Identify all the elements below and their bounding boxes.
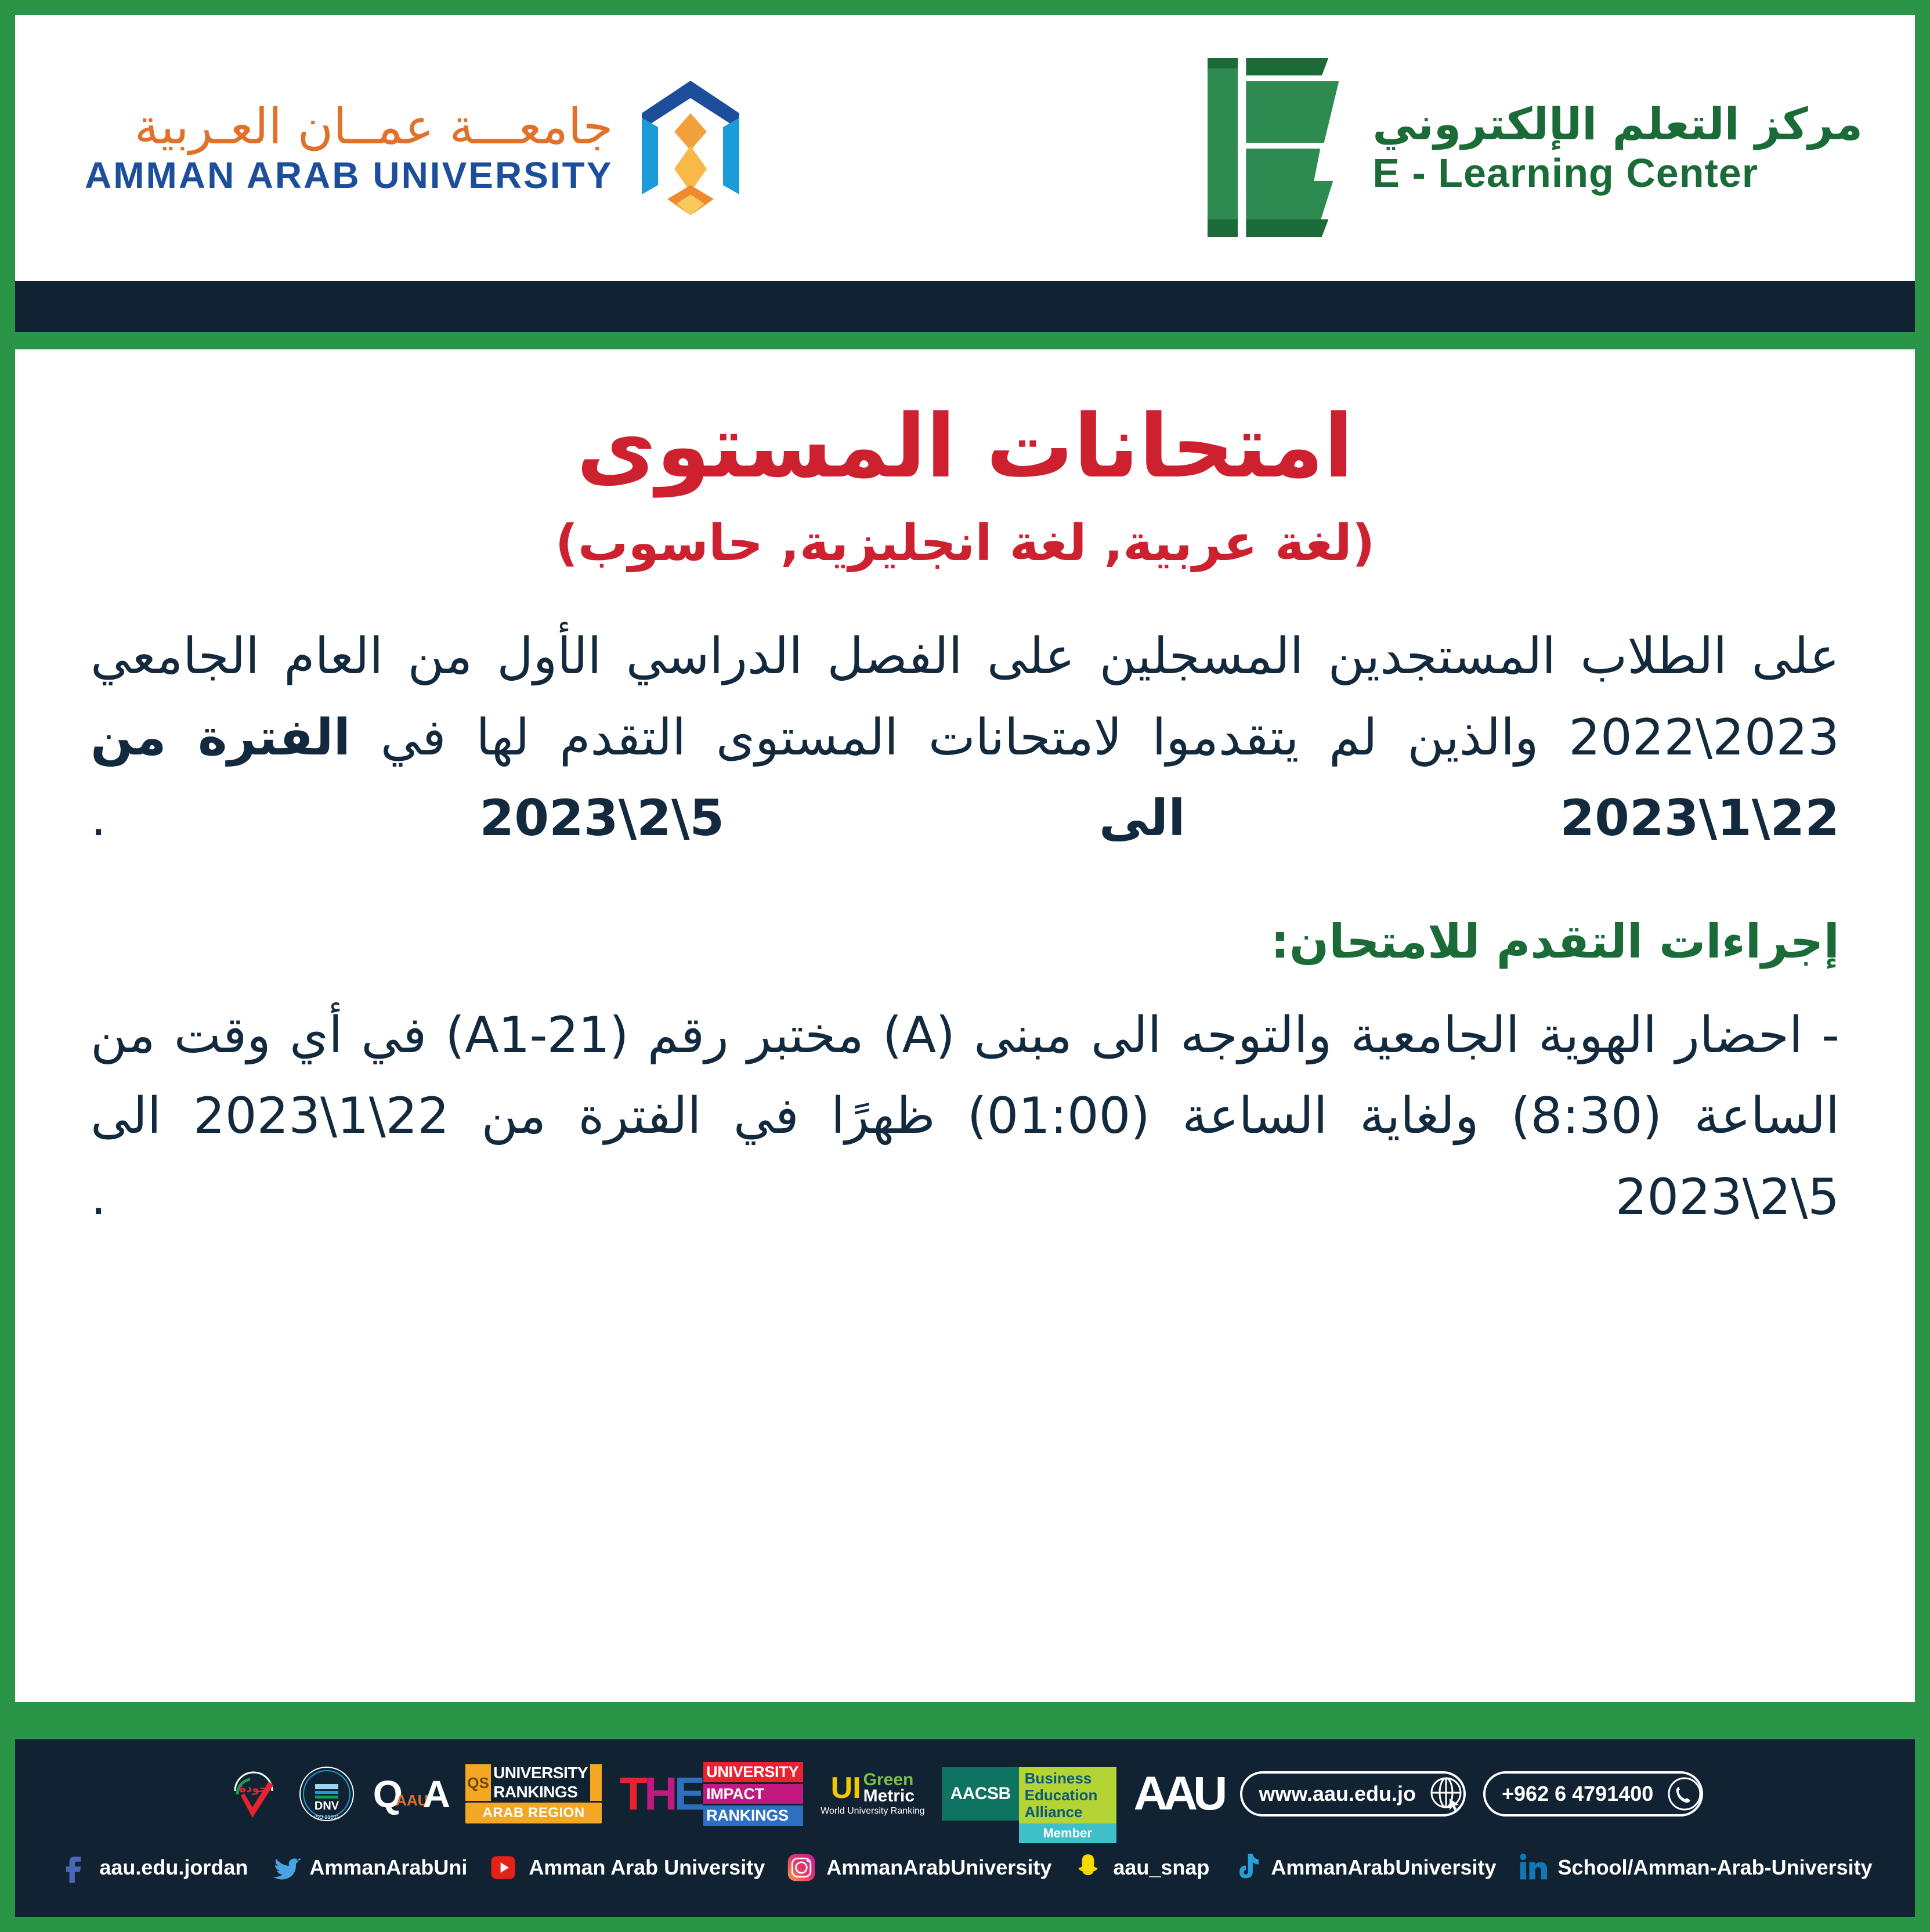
svg-text:ISO 21001: ISO 21001 [314,1814,339,1820]
elearning-center-english-name: E - Learning Center [1372,152,1863,195]
aau-wordmark-badge: AAU [1134,1762,1223,1826]
announcement-paragraph: على الطلاب المستجدين المسجلين على الفصل … [91,616,1839,859]
elearning-center-logo: مركز التعلم الإلكتروني E - Learning Cent… [1196,58,1863,238]
qs-mark-label: QS [465,1764,491,1801]
the-row-university: UNIVERSITY [703,1762,803,1782]
social-link-twitter[interactable]: AmmanArabUni [268,1851,467,1884]
aacsb-member-label: Member [1019,1823,1116,1843]
university-logo-text: جامعـــة عمــان العـربية AMMAN ARAB UNIV… [85,101,613,194]
globe-cursor-icon [1426,1773,1468,1815]
elearning-center-arabic-name: مركز التعلم الإلكتروني [1372,101,1863,147]
tiktok-icon [1229,1851,1263,1884]
twitter-icon [268,1851,301,1884]
phone-icon [1664,1773,1705,1815]
qs-region-label: ARAB REGION [465,1803,602,1823]
phone-pill[interactable]: +962 6 4791400 [1483,1771,1703,1817]
qs-line-university: UNIVERSITY [493,1764,588,1782]
paragraph-text-tail: . [91,789,479,847]
dnv-iso-badge: DNV ISO 21001 [298,1762,356,1826]
social-link-instagram[interactable]: AmmanArabUniversity [785,1851,1051,1884]
university-arabic-name: جامعـــة عمــان العـربية [135,101,613,152]
instagram-handle: AmmanArabUniversity [826,1855,1051,1880]
the-row-impact: IMPACT [703,1784,803,1804]
facebook-handle: aau.edu.jordan [99,1855,248,1880]
twitter-handle: AmmanArabUni [309,1855,467,1880]
greenmetric-green-label: Green [863,1772,915,1789]
instagram-icon [785,1851,818,1884]
paragraph-text-lead: على الطلاب المستجدين المسجلين على الفصل … [91,627,1839,766]
website-label: www.aau.edu.jo [1259,1782,1426,1806]
page-subtitle: (لغة عربية, لغة انجليزية, حاسوب) [91,514,1839,573]
the-impact-rankings-badge: THE UNIVERSITY IMPACT RANKINGS [619,1762,803,1826]
qs-rankings-badge: QS UNIVERSITY RANKINGS ARAB REGION [465,1762,602,1826]
qs-line-rankings: RANKINGS [493,1783,588,1801]
header-green-divider [15,332,1915,349]
phone-label: +962 6 4791400 [1502,1782,1664,1806]
greenmetric-subtitle: World University Ranking [821,1806,924,1817]
social-links-row: aau.edu.jordan AmmanArabUni [50,1841,1880,1894]
procedures-bullet-item: - احضار الهوية الجامعية والتوجه الى مبنى… [91,995,1839,1238]
footer-green-divider [15,1702,1915,1739]
svg-text:DNV: DNV [315,1800,339,1812]
header-navy-band [15,281,1915,332]
university-logo: جامعـــة عمــان العـربية AMMAN ARAB UNIV… [85,78,749,218]
poster-header: مركز التعلم الإلكتروني E - Learning Cent… [15,15,1915,281]
aacsb-alliance-label: Business Education Alliance [1019,1767,1116,1823]
youtube-handle: Amman Arab University [529,1855,765,1880]
elearning-center-text: مركز التعلم الإلكتروني E - Learning Cent… [1372,101,1863,194]
aacsb-badge: AACSB Business Education Alliance Member [942,1762,1116,1826]
qs-accent-square [590,1764,602,1801]
facebook-icon [57,1851,91,1884]
social-link-linkedin[interactable]: School/Amman-Arab-University [1516,1851,1873,1884]
linkedin-icon [1516,1851,1550,1884]
poster-inner: مركز التعلم الإلكتروني E - Learning Cent… [15,15,1915,1917]
poster-body: امتحانات المستوى (لغة عربية, لغة انجليزي… [15,349,1915,1702]
social-link-youtube[interactable]: Amman Arab University [487,1851,765,1884]
the-row-rankings: RANKINGS [703,1805,803,1825]
ui-greenmetric-badge: UI Green Metric World University Ranking [821,1762,924,1826]
the-letters-group: THE [619,1762,702,1825]
greenmetric-metric-label: Metric [863,1788,915,1805]
accreditation-badge-row: جودة DNV ISO 21001 [50,1759,1880,1829]
jordan-quality-seal-badge: جودة [227,1762,280,1826]
aau-qa-badge: Q AAU A [373,1762,448,1826]
snapchat-handle: aau_snap [1113,1855,1209,1880]
aau-hexagon-logo-icon [633,78,749,218]
poster-root: مركز التعلم الإلكتروني E - Learning Cent… [0,0,1930,1932]
e-learning-logo-icon [1196,58,1353,238]
social-link-facebook[interactable]: aau.edu.jordan [57,1851,248,1884]
social-link-snapchat[interactable]: aau_snap [1071,1851,1209,1884]
youtube-icon [487,1851,521,1884]
poster-footer: جودة DNV ISO 21001 [15,1739,1915,1917]
qa-a-letter: A [422,1772,448,1816]
procedures-heading: إجراءات التقدم للامتحان: [91,915,1839,969]
website-pill[interactable]: www.aau.edu.jo [1240,1771,1466,1817]
aacsb-left-label: AACSB [942,1767,1018,1821]
greenmetric-ui-label: UI [831,1775,861,1802]
snapchat-icon [1071,1851,1105,1884]
tiktok-handle: AmmanArabUniversity [1271,1855,1496,1880]
social-link-tiktok[interactable]: AmmanArabUniversity [1229,1851,1496,1884]
linkedin-handle: School/Amman-Arab-University [1558,1855,1873,1880]
page-title: امتحانات المستوى [91,396,1839,499]
university-english-name: AMMAN ARAB UNIVERSITY [85,156,613,195]
